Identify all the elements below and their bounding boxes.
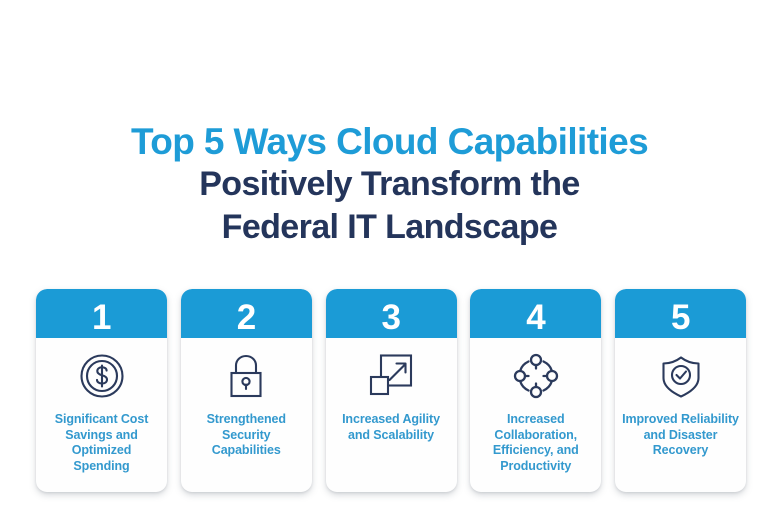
card-5: 5 Improved Reliability and Disaster Reco… [615, 289, 746, 492]
card-1-number: 1 [92, 300, 111, 335]
card-4-label: Increased Collaboration, Efficiency, and… [470, 412, 601, 474]
card-2-number: 2 [237, 300, 256, 335]
card-2-header: 2 [181, 289, 312, 338]
card-2: 2 Strengthened Security Capabilities [181, 289, 312, 492]
card-1: 1 Significant Cost Savings and Optimized… [36, 289, 167, 492]
card-4-number: 4 [526, 300, 545, 335]
padlock-icon [225, 352, 267, 400]
scale-expand-arrow-icon [367, 352, 415, 400]
card-1-header: 1 [36, 289, 167, 338]
card-5-header: 5 [615, 289, 746, 338]
title-line-1: Top 5 Ways Cloud Capabilities [0, 120, 779, 163]
shield-check-icon [657, 352, 705, 400]
dollar-coin-icon [78, 352, 126, 400]
card-3-header: 3 [326, 289, 457, 338]
card-1-label: Significant Cost Savings and Optimized S… [36, 412, 167, 474]
card-2-label: Strengthened Security Capabilities [181, 412, 312, 459]
card-3: 3 Increased Agility and Scalability [326, 289, 457, 492]
card-3-label: Increased Agility and Scalability [326, 412, 457, 443]
card-5-label: Improved Reliability and Disaster Recove… [615, 412, 746, 459]
card-4: 4 Increased Collaborati [470, 289, 601, 492]
infographic-canvas: Top 5 Ways Cloud Capabilities Positively… [0, 0, 779, 519]
title-line-2: Positively Transform the [0, 163, 779, 206]
card-4-header: 4 [470, 289, 601, 338]
cards-row: 1 Significant Cost Savings and Optimized… [36, 289, 746, 493]
page-title: Top 5 Ways Cloud Capabilities Positively… [0, 120, 779, 249]
title-line-3: Federal IT Landscape [0, 206, 779, 249]
network-nodes-icon [512, 352, 560, 400]
card-5-number: 5 [671, 300, 690, 335]
card-3-number: 3 [382, 300, 401, 335]
